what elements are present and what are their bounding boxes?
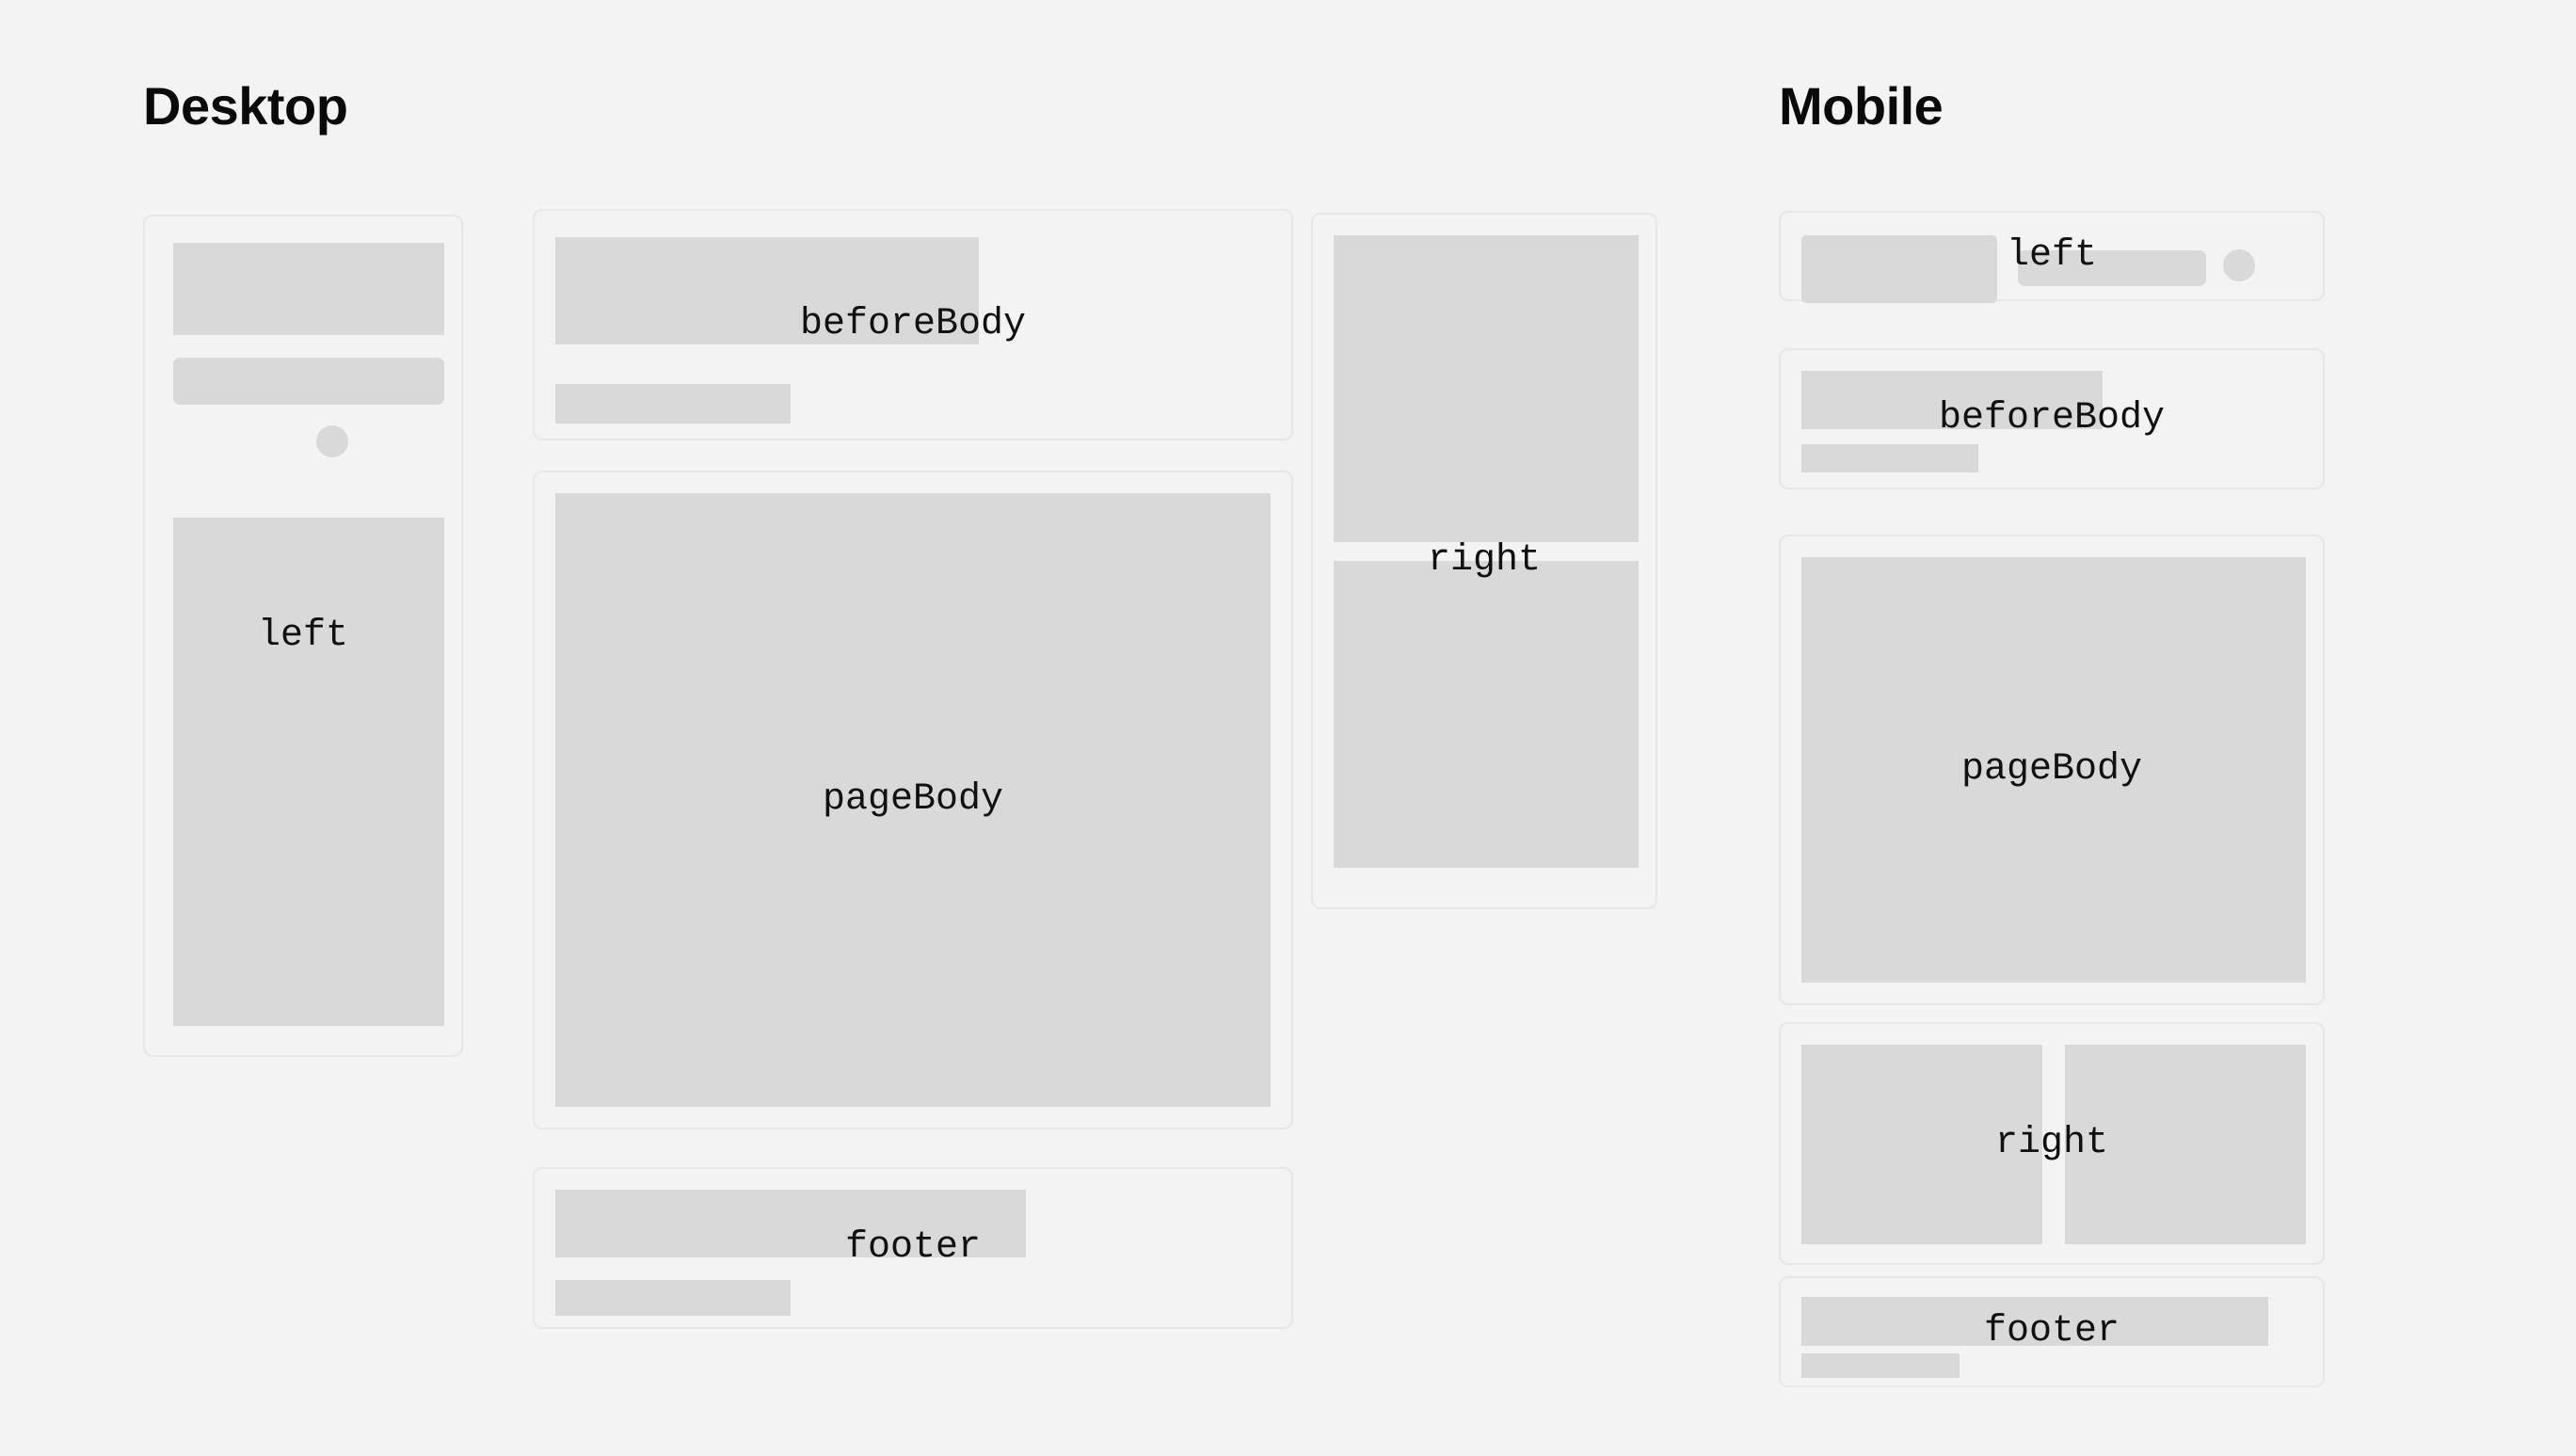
desktop-region-left[interactable] [143, 215, 463, 1057]
skeleton-bar [173, 358, 444, 405]
skeleton-bar [1801, 1353, 1960, 1378]
mobile-region-right[interactable] [1779, 1022, 2325, 1265]
desktop-region-right[interactable] [1311, 213, 1657, 909]
mobile-region-footer[interactable] [1779, 1276, 2325, 1387]
avatar-placeholder-icon [2223, 249, 2255, 281]
desktop-region-footer[interactable] [533, 1167, 1293, 1329]
skeleton-block [173, 243, 444, 335]
desktop-region-pagebody[interactable] [533, 471, 1293, 1129]
skeleton-bar [555, 1280, 791, 1316]
skeleton-block [1801, 371, 2103, 429]
desktop-section-title: Desktop [143, 80, 347, 133]
skeleton-block [555, 1190, 1026, 1257]
skeleton-bar [555, 384, 791, 424]
skeleton-block [1334, 235, 1639, 542]
mobile-region-beforebody[interactable] [1779, 348, 2325, 489]
skeleton-block [555, 237, 979, 344]
skeleton-bar [1801, 444, 1978, 472]
skeleton-bar [2018, 250, 2206, 286]
skeleton-block [1801, 235, 1997, 303]
avatar-placeholder-icon [316, 425, 348, 457]
skeleton-block [1801, 557, 2306, 983]
mobile-region-left[interactable] [1779, 211, 2325, 301]
skeleton-block [2065, 1045, 2306, 1244]
desktop-region-beforebody[interactable] [533, 209, 1293, 440]
skeleton-block [1801, 1297, 2268, 1346]
skeleton-block [1801, 1045, 2042, 1244]
skeleton-block [173, 518, 444, 1026]
skeleton-block [555, 493, 1271, 1107]
mobile-section-title: Mobile [1779, 80, 1943, 133]
mobile-region-pagebody[interactable] [1779, 535, 2325, 1005]
skeleton-block [1334, 561, 1639, 868]
